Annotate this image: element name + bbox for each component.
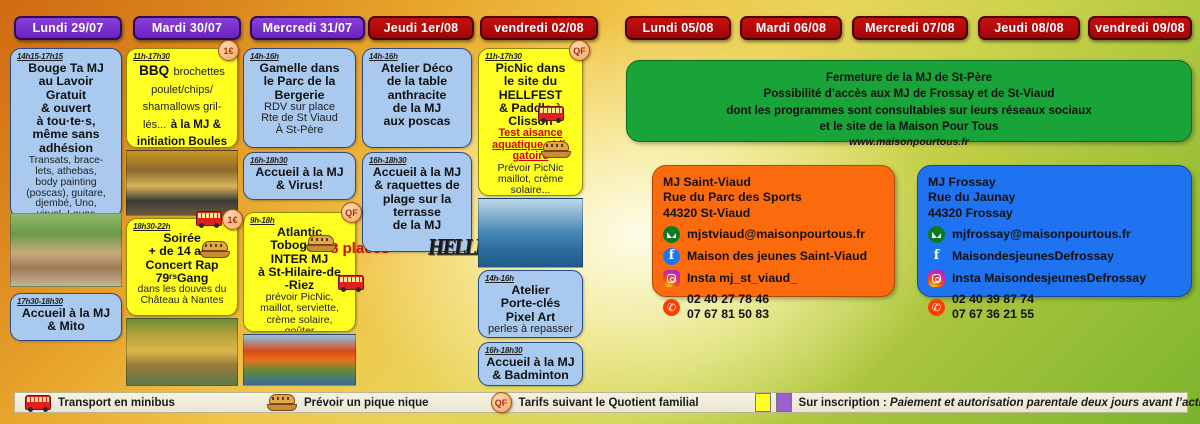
closure-notice-text: Fermeture de la MJ de St-Père Possibilit… — [639, 70, 1179, 136]
card-title: Accueil à la MJ & Mito — [15, 307, 117, 334]
card-time: 14h-16h — [485, 274, 578, 283]
qf-badge-label: QF — [345, 208, 358, 218]
instagram-text: Insta mj_st_viaud_ — [687, 271, 797, 286]
minibus-icon — [538, 106, 564, 121]
day-header-label: Mardi 06/08 — [756, 21, 826, 35]
card-subtitle: dans les douves du Château à Nantes — [131, 285, 233, 307]
day-header-label: Lundi 05/08 — [643, 21, 714, 35]
qf-badge: QF — [569, 40, 590, 61]
day-header-label: Mercredi 31/07 — [263, 21, 353, 35]
instagram-icon — [663, 270, 680, 287]
instagram-icon — [928, 270, 945, 287]
activity-card-bbq[interactable]: 11h-17h30 BBQ brochettes poulet/chips/ s… — [126, 48, 238, 148]
picnic-icon — [200, 241, 230, 258]
card-time: 11h-17h30 — [485, 52, 578, 61]
day-header-jeudi-1er08[interactable]: Jeudi 1er/08 — [368, 16, 474, 40]
day-header-jeudi-0808[interactable]: Jeudi 08/08 — [978, 16, 1080, 40]
legend-item-picnic: Prévoir un pique nique — [267, 394, 429, 411]
photo-paddle-clisson — [478, 198, 583, 268]
legend-item-minibus: Transport en minibus — [25, 395, 175, 410]
card-time: 14h15-17h15 — [17, 52, 117, 61]
activity-card-accueil-badminton[interactable]: 16h-18h30 Accueil à la MJ & Badminton — [478, 342, 583, 386]
picnic-icon — [541, 141, 571, 158]
photo-boules-nantaises — [126, 150, 238, 216]
card-title: Accueil à la MJ & raquettes de plage sur… — [367, 166, 467, 232]
instagram-text: Insta MaisondesjeunesDefrossay — [952, 271, 1146, 286]
legend-label-inscription: Sur inscription : Paiement et autorisati… — [799, 397, 1200, 409]
day-header-label: Mardi 30/07 — [152, 21, 222, 35]
card-subtitle: Transats, brace- lets, athebas, body pai… — [15, 156, 117, 218]
card-title: Bouge Ta MJ au Lavoir Gratuit & ouvert à… — [15, 62, 117, 155]
card-title: BBQ — [139, 63, 169, 78]
activity-card-atelier-deco[interactable]: 14h-16h Atelier Déco de la table anthrac… — [362, 48, 472, 148]
facebook-row[interactable]: f MaisondesjeunesDefrossay — [928, 248, 1181, 265]
photo-concert-chateau — [126, 318, 238, 386]
day-header-mercredi-3107[interactable]: Mercredi 31/07 — [250, 16, 365, 40]
email-icon — [663, 226, 680, 243]
contact-panel-mj-frossay: MJ Frossay Rue du Jaunay 44320 Frossay m… — [917, 165, 1192, 297]
legend-label-minibus: Transport en minibus — [58, 397, 175, 409]
qf-badge-label: QF — [495, 398, 508, 408]
card-subtitle: perles à repasser — [483, 324, 578, 336]
phone-icon: ✆ — [928, 299, 945, 316]
qf-badge: QF — [491, 392, 512, 413]
swatch-yellow — [755, 393, 771, 412]
picnic-icon — [267, 394, 297, 411]
day-header-lundi-2907[interactable]: Lundi 29/07 — [14, 16, 122, 40]
card-time: 9h-18h — [250, 216, 351, 225]
facebook-row[interactable]: f Maison des jeunes Saint-Viaud — [663, 248, 884, 265]
facebook-icon: f — [928, 248, 945, 265]
instagram-row[interactable]: Insta mj_st_viaud_ — [663, 270, 884, 287]
legend-label-qf: Tarifs suivant le Quotient familial — [519, 397, 699, 409]
legend-inscription-note: Paiement et autorisation parentale deux … — [890, 397, 1200, 409]
address-mj-saint-viaud: MJ Saint-Viaud Rue du Parc des Sports 44… — [663, 175, 884, 221]
card-title: Soirée + de 14 ans Concert Rap 79ʳˢGang — [131, 232, 233, 285]
email-text: mjfrossay@maisonpourtous.fr — [952, 227, 1131, 242]
facebook-text: Maison des jeunes Saint-Viaud — [687, 249, 867, 264]
legend-item-inscription: Sur inscription : Paiement et autorisati… — [755, 393, 1200, 412]
instagram-row[interactable]: Insta MaisondesjeunesDefrossay — [928, 270, 1181, 287]
email-icon — [928, 226, 945, 243]
email-row[interactable]: mjstviaud@maisonpourtous.fr — [663, 226, 884, 243]
card-title: Gamelle dans le Parc de la Bergerie — [248, 62, 351, 102]
activity-card-picnic-hellfest[interactable]: 11h-17h30 PicNic dans le site du HELLFES… — [478, 48, 583, 196]
email-text: mjstviaud@maisonpourtous.fr — [687, 227, 865, 242]
card-time: 16h-18h30 — [485, 346, 578, 355]
card-subtitle: prévoir PicNic, maillot, serviette, crèm… — [248, 292, 351, 332]
photo-parc-lavoir — [10, 213, 122, 287]
phone-text: 02 40 39 87 74 07 67 36 21 55 — [952, 292, 1034, 322]
day-header-label: Jeudi 1er/08 — [384, 21, 459, 35]
facebook-icon: f — [663, 248, 680, 265]
legend-item-qf: QF Tarifs suivant le Quotient familial — [491, 392, 699, 413]
phone-row[interactable]: ✆ 02 40 39 87 74 07 67 36 21 55 — [928, 292, 1181, 322]
card-subtitle: Prévoir PicNic maillot, crème solaire... — [483, 163, 578, 196]
activity-card-accueil-mito[interactable]: 17h30-18h30 Accueil à la MJ & Mito — [10, 293, 122, 341]
day-header-label: Lundi 29/07 — [33, 21, 104, 35]
activity-card-gamelle-bergerie[interactable]: 14h-16h Gamelle dans le Parc de la Berge… — [243, 48, 356, 148]
price-badge-1-euro: 1€ — [218, 40, 239, 61]
card-time: 17h30-18h30 — [17, 297, 117, 306]
legend-bar: Transport en minibus Prévoir un pique ni… — [14, 392, 1188, 413]
email-row[interactable]: mjfrossay@maisonpourtous.fr — [928, 226, 1181, 243]
card-title: Accueil à la MJ & Virus! — [248, 166, 351, 193]
card-subtitle: RDV sur place Rte de St Viaud À St-Père — [248, 102, 351, 137]
day-header-lundi-0508[interactable]: Lundi 05/08 — [625, 16, 731, 40]
card-time: 16h-18h30 — [369, 156, 467, 165]
activity-card-atelier-pixel-art[interactable]: 14h-16h Atelier Porte-clés Pixel Art per… — [478, 270, 583, 338]
card-time: 14h-16h — [250, 52, 351, 61]
address-mj-frossay: MJ Frossay Rue du Jaunay 44320 Frossay — [928, 175, 1181, 221]
price-badge-1-euro: 1€ — [222, 209, 243, 230]
price-badge-label: 1€ — [223, 46, 233, 56]
poster-canvas: Lundi 29/07 Mardi 30/07 Mercredi 31/07 J… — [0, 0, 1200, 424]
day-header-label: Mercredi 07/08 — [865, 21, 955, 35]
minibus-icon — [196, 211, 222, 226]
website-url[interactable]: www.maisonpourtous.fr — [639, 136, 1179, 148]
legend-label-picnic: Prévoir un pique nique — [304, 397, 429, 409]
minibus-icon — [25, 395, 51, 410]
legend-inscription-prefix: Sur inscription : — [799, 397, 890, 409]
closure-notice-panel: Fermeture de la MJ de St-Père Possibilit… — [626, 60, 1192, 142]
qf-badge-label: QF — [573, 46, 586, 56]
card-time: 16h-18h30 — [250, 156, 351, 165]
day-header-mardi-0608[interactable]: Mardi 06/08 — [740, 16, 842, 40]
phone-text: 02 40 27 78 46 07 67 81 50 83 — [687, 292, 769, 322]
minibus-icon — [338, 275, 364, 290]
day-header-label: vendredi 09/08 — [1095, 21, 1185, 35]
photo-parc-toboggan — [243, 334, 356, 386]
day-header-label: vendredi 02/08 — [494, 21, 584, 35]
activity-card-soiree-concert-rap[interactable]: 18h30-22h Soirée + de 14 ans Concert Rap… — [126, 218, 238, 316]
activity-card-bouge-ta-mj[interactable]: 14h15-17h15 Bouge Ta MJ au Lavoir Gratui… — [10, 48, 122, 218]
facebook-text: MaisondesjeunesDefrossay — [952, 249, 1114, 264]
activity-card-accueil-virus[interactable]: 16h-18h30 Accueil à la MJ & Virus! — [243, 152, 356, 200]
qf-badge: QF — [341, 202, 362, 223]
phone-row[interactable]: ✆ 02 40 27 78 46 07 67 81 50 83 — [663, 292, 884, 322]
swatch-purple — [776, 393, 792, 412]
activity-card-atlantic-toboggan[interactable]: 9h-18h Atlantic Toboggan INTER MJ à St-H… — [243, 212, 356, 332]
day-header-mardi-3007[interactable]: Mardi 30/07 — [133, 16, 241, 40]
day-header-vendredi-0908[interactable]: vendredi 09/08 — [1088, 16, 1192, 40]
day-header-mercredi-0708[interactable]: Mercredi 07/08 — [852, 16, 968, 40]
card-time: 14h-16h — [369, 52, 467, 61]
card-title: Accueil à la MJ & Badminton — [483, 356, 578, 383]
day-header-vendredi-0208[interactable]: vendredi 02/08 — [480, 16, 598, 40]
picnic-icon — [306, 235, 336, 252]
price-badge-label: 1€ — [227, 215, 237, 225]
day-header-label: Jeudi 08/08 — [994, 21, 1064, 35]
phone-icon: ✆ — [663, 299, 680, 316]
card-title: Atelier Porte-clés Pixel Art — [483, 284, 578, 324]
card-title: Atelier Déco de la table anthracite de l… — [367, 62, 467, 128]
contact-panel-mj-saint-viaud: MJ Saint-Viaud Rue du Parc des Sports 44… — [652, 165, 895, 297]
